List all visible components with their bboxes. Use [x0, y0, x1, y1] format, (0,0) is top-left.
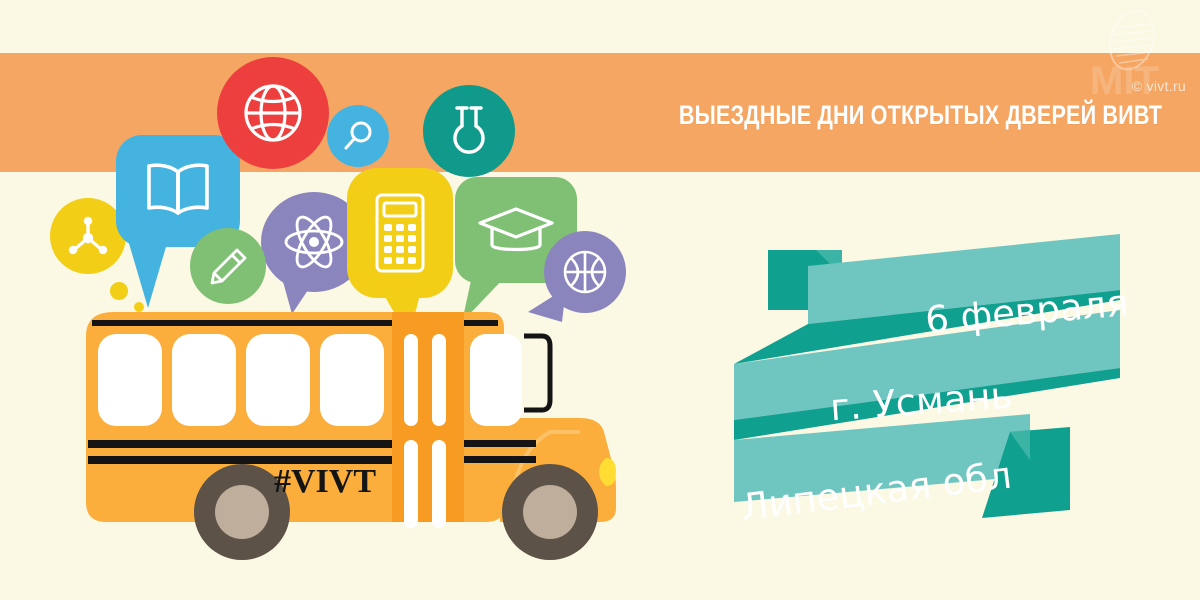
school-bus: #VIVT	[80, 300, 680, 560]
globe-icon	[237, 77, 309, 149]
molecule-icon	[62, 210, 114, 262]
graduation-cap-icon	[474, 199, 558, 261]
bubble-globe	[217, 57, 329, 169]
pencil-icon	[204, 242, 252, 290]
bus-hashtag: #VIVT	[274, 463, 376, 500]
bubble-calculator	[347, 168, 453, 298]
bubble-dot-large	[110, 282, 128, 300]
atom-icon	[281, 212, 347, 272]
basketball-icon	[558, 245, 612, 299]
magnifier-icon	[338, 116, 378, 156]
flask-icon	[439, 99, 499, 163]
ribbon-banner: 6 февраля г. Усмань Липецкая обл	[720, 228, 1140, 518]
calculator-icon	[368, 187, 432, 279]
watermark-copyright: © vivt.ru	[1132, 78, 1186, 94]
bubble-molecule	[50, 198, 126, 274]
poster-canvas: #VIVT 6 февраля г. Усмань Липецкая обл В…	[0, 0, 1200, 600]
bus-wheel-front	[502, 464, 598, 560]
bubble-flask	[423, 85, 515, 177]
bubble-magnifier	[327, 105, 389, 167]
open-book-icon	[139, 158, 217, 220]
bubble-pencil	[190, 228, 266, 304]
